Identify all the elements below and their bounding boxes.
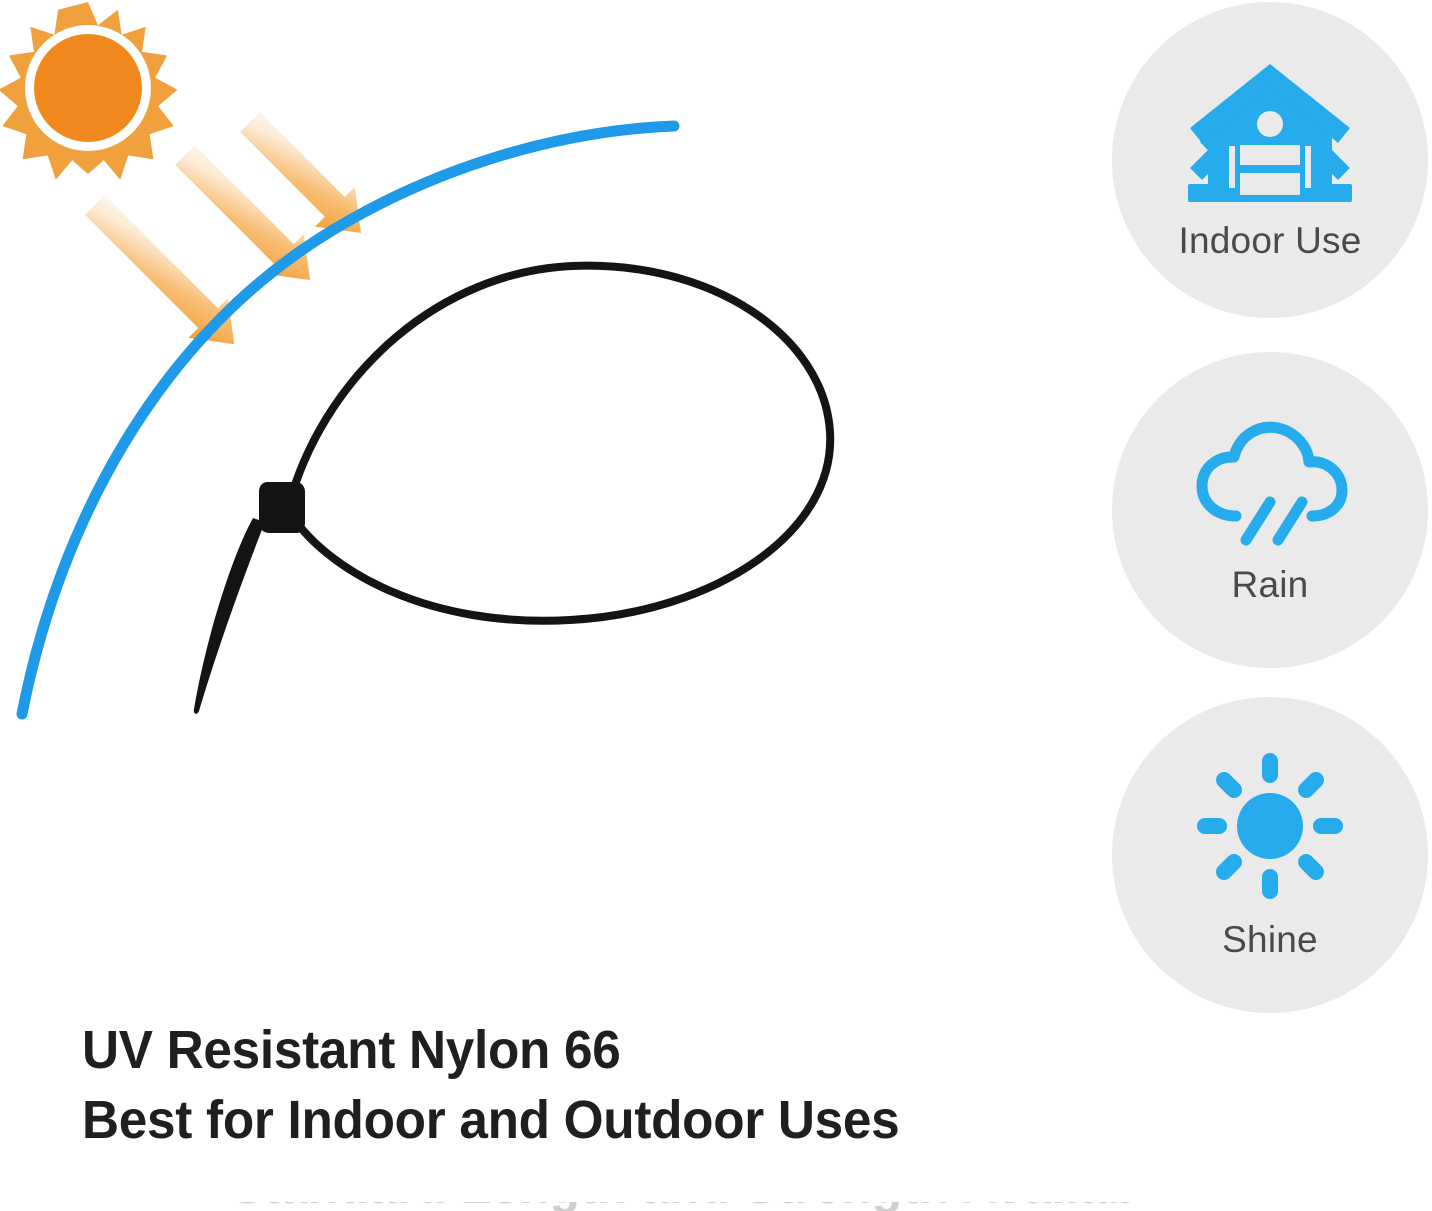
headline-line-1: UV Resistant Nylon 66 (82, 1015, 1013, 1085)
rain-cloud-icon (1184, 418, 1356, 550)
feature-badge-label: Indoor Use (1179, 222, 1362, 259)
feature-badge-shine[interactable]: Shine (1112, 697, 1428, 1013)
sun-core (34, 34, 142, 142)
headline-line-2: Best for Indoor and Outdoor Uses (82, 1085, 1013, 1155)
sun-shine-icon (1197, 753, 1343, 899)
feature-badge-column: Indoor Use Rain (1112, 0, 1432, 1020)
bottom-clipped-text-label: Standard Length and Strength Available (230, 1202, 1130, 1211)
feature-badge-label: Rain (1232, 566, 1309, 603)
feature-badge-rain[interactable]: Rain (1112, 352, 1428, 668)
bottom-clipped-text: Standard Length and Strength Available (230, 1202, 1130, 1211)
cable-tie-tail (194, 518, 265, 714)
feature-badge-label: Shine (1222, 921, 1318, 958)
sun-icon (0, 2, 178, 180)
cable-tie-head (259, 482, 305, 533)
headline-block: UV Resistant Nylon 66 Best for Indoor an… (82, 1015, 1062, 1155)
cable-tie (194, 266, 830, 714)
product-infographic: Indoor Use Rain (0, 0, 1432, 1211)
feature-badge-indoor-use[interactable]: Indoor Use (1112, 2, 1428, 318)
cable-tie-loop (292, 266, 830, 621)
house-icon (1182, 62, 1358, 212)
